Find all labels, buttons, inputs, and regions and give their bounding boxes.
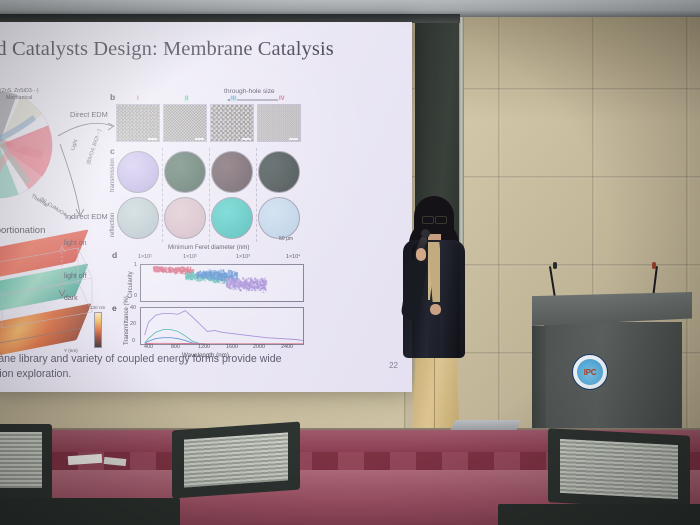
panel-letter-d: d [112,250,117,260]
column-divider-1 [162,148,163,242]
slide-caption-line-1: mbrane library and variety of coupled en… [0,352,372,367]
column-header-IV: IV [279,96,285,102]
ipc-logo-text: IPC [584,368,596,377]
panel-letter-e: e [112,303,117,313]
chord-diagram [0,86,58,204]
light-state-arrow [58,244,66,300]
transmission-circle-I [117,151,159,193]
panel-d-xtick-0: 1×10¹ [138,254,152,260]
sem-image-II [163,104,207,142]
panel-e-xtick-2000: 2000 [253,344,265,350]
slide-title: ced Catalysts Design: Membrane Catalysis [0,38,378,61]
sem-image-row [116,104,301,142]
panel-letter-b: b [110,92,115,102]
spectra-curves [141,308,303,344]
panel-e-ytick-0: 0 [132,338,135,344]
panel-d-yaxis-title: Circularity [128,271,134,298]
sem-image-IV [257,104,301,142]
sem-image-III [210,104,254,142]
chord-label-materials: (ZnS, ZnSiO3···) [0,88,39,94]
panel-d-scatter-plot [140,264,304,302]
reflection-circle-I [117,197,159,239]
panel-e-ytick-20: 20 [130,321,136,327]
column-header-I: I [137,96,139,102]
projection-screen: ced Catalysts Design: Membrane Catalysis [0,22,412,392]
reflection-circle-II [164,197,206,239]
column-divider-3 [256,148,257,242]
panel-d-xtick-3: 1×10⁴ [286,254,300,260]
panel-e-xtick-800: 800 [171,344,180,350]
label-dark: dark [64,295,78,302]
chord-label-mechanical: Mechanical [6,95,32,101]
conference-photo: ced Catalysts Design: Membrane Catalysis [0,0,700,525]
slide-caption-line-2: lination exploration. [0,367,372,382]
panel-d-xaxis-title: Minimum Feret diameter (nm) [168,244,249,251]
scalebar-50um: 50 µm [279,236,293,242]
scatter-points [141,265,303,301]
surface-axes [0,234,102,354]
panel-e-line-plot [140,307,304,345]
column-divider-2 [209,148,210,242]
hand-holding-mic [416,248,426,261]
transmission-circle-IV [258,151,300,193]
column-header-III: III [230,96,237,102]
panel-e-xtick-400: 400 [144,344,153,350]
panel-d-ytick-top: 1 [134,262,137,268]
glasses-icon [422,216,447,222]
panel-d-xtick-1: 1×10² [183,254,197,260]
blazer-panel-right [440,242,460,358]
chair-front-right [498,504,700,525]
panel-e-xtick-2400: 2400 [281,344,293,350]
podium-top-surface [532,292,692,326]
podium-microphone-left-tip [553,262,557,269]
resting-hand [430,304,441,315]
transmission-circle-III [211,151,253,193]
sem-image-I [116,104,160,142]
panel-e-ytick-40: 40 [130,305,136,311]
panel-letter-c: c [110,146,115,156]
panel-e-yaxis-title: Transmittance (%) [124,296,130,345]
reflection-circle-IV [258,197,300,239]
column-header-II: II [184,96,189,102]
surface-colorbar [94,312,102,348]
ipc-logo: IPC [572,354,608,390]
through-hole-size-label: through-hole size [224,88,275,95]
reflection-circle-III [211,197,253,239]
slide-caption: mbrane library and variety of coupled en… [0,352,372,383]
chair-middle-pad [184,432,288,487]
chair-right-pad [560,439,678,499]
chair-front-left [0,498,180,525]
colorbar-max-label: 130 nm [90,305,105,310]
chair-left-pad [0,432,42,488]
panel-d-ytick-bottom: 0 [134,293,137,299]
panel-e-xtick-1600: 1600 [226,344,238,350]
panel-e-xtick-1200: 1200 [198,344,210,350]
label-light-off: light off [64,273,86,280]
panel-d-xtick-2: 1×10³ [236,254,250,260]
ipc-logo-inner: IPC [577,359,603,385]
microphone-head [421,229,430,238]
presentation-slide: ced Catalysts Design: Membrane Catalysis [0,22,412,392]
transmission-circle-II [164,151,206,193]
presenter [392,196,476,448]
label-light-on: light on [64,240,87,247]
podium-microphone-right-tip [652,262,656,269]
